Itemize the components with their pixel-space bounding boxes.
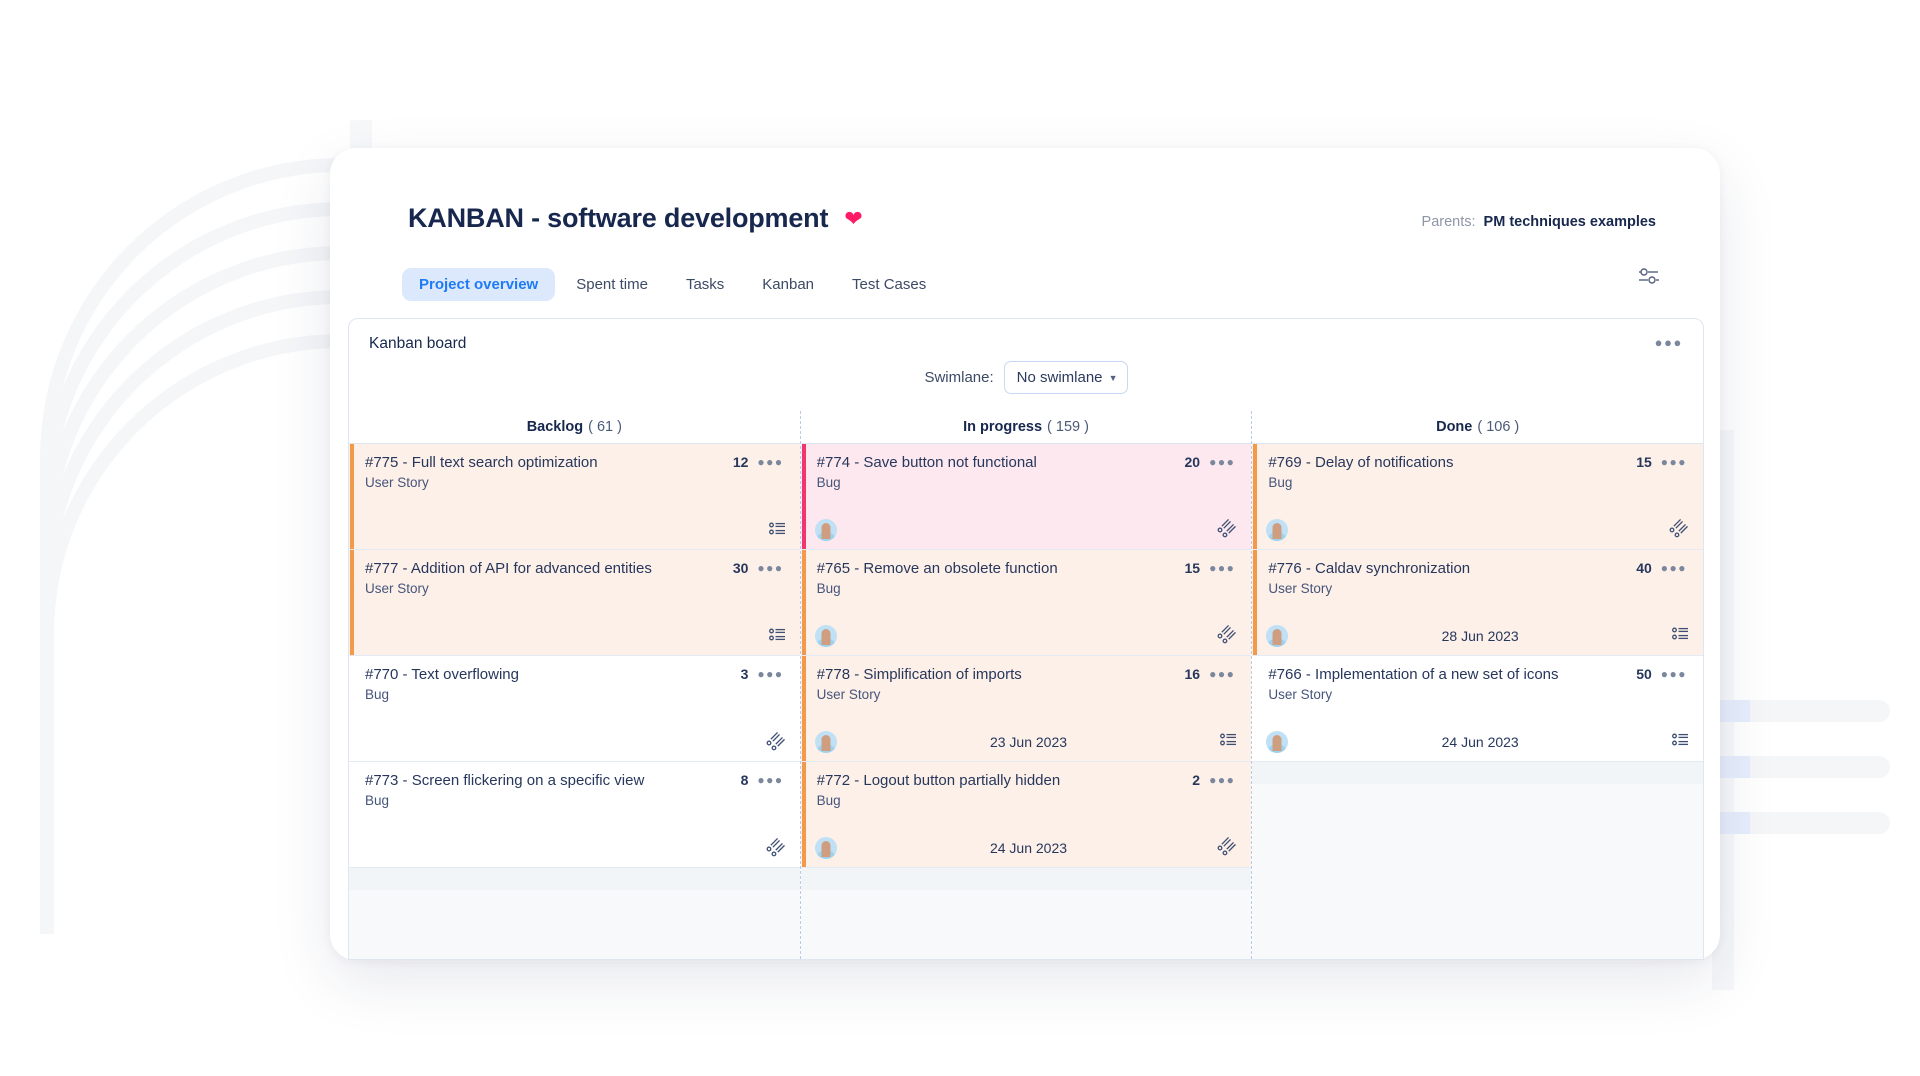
column-drop-area[interactable]	[1252, 762, 1703, 784]
ellipsis-icon[interactable]: ●●●	[1209, 667, 1235, 681]
card-footer	[363, 733, 786, 753]
card-title: #769 - Delay of notifications	[1268, 454, 1626, 473]
card-top: #766 - Implementation of a new set of ic…	[1268, 666, 1687, 685]
card-accent-bar	[1253, 550, 1257, 655]
card-points: 40	[1636, 560, 1652, 576]
avatar[interactable]	[1266, 731, 1288, 753]
card-points: 8	[741, 772, 749, 788]
card-footer: 24 Jun 2023	[815, 837, 1238, 859]
app-window: KANBAN - software development ❤ Parents:…	[330, 148, 1720, 960]
card-accent-bar	[802, 444, 806, 549]
card-footer	[815, 519, 1238, 541]
checklist-icon[interactable]	[764, 730, 790, 756]
card-points: 3	[741, 666, 749, 682]
checklist-icon[interactable]	[1220, 732, 1237, 752]
card-meta: 3●●●	[731, 666, 784, 682]
column-count: ( 159 )	[1047, 419, 1089, 435]
card-title: #775 - Full text search optimization	[365, 454, 723, 473]
kanban-card[interactable]: #775 - Full text search optimization12●●…	[349, 444, 800, 550]
ellipsis-icon[interactable]: ●●●	[757, 561, 783, 575]
ellipsis-icon[interactable]: ●●●	[1661, 561, 1687, 575]
avatar[interactable]	[1266, 519, 1288, 541]
column-count: ( 106 )	[1477, 419, 1519, 435]
checklist-icon[interactable]	[769, 627, 786, 647]
card-type: User Story	[1268, 581, 1687, 596]
card-footer	[815, 625, 1238, 647]
checklist-icon[interactable]	[1672, 626, 1689, 646]
card-top: #776 - Caldav synchronization40●●●	[1268, 560, 1687, 579]
kanban-card[interactable]: #774 - Save button not functional20●●●Bu…	[801, 444, 1252, 550]
column-name: Done	[1436, 419, 1472, 435]
tab-tasks[interactable]: Tasks	[669, 268, 741, 301]
card-title: #773 - Screen flickering on a specific v…	[365, 772, 731, 791]
ellipsis-icon[interactable]: ●●●	[1209, 773, 1235, 787]
column-name: In progress	[963, 419, 1042, 435]
card-title: #765 - Remove an obsolete function	[817, 560, 1175, 579]
tab-spent-time[interactable]: Spent time	[559, 268, 665, 301]
card-top: #777 - Addition of API for advanced enti…	[365, 560, 784, 579]
checklist-icon[interactable]	[1216, 623, 1242, 649]
avatar[interactable]	[1266, 625, 1288, 647]
card-type: User Story	[365, 475, 784, 490]
checklist-icon[interactable]	[769, 521, 786, 541]
card-top: #769 - Delay of notifications15●●●	[1268, 454, 1687, 473]
card-type: Bug	[365, 687, 784, 702]
kanban-card[interactable]: #770 - Text overflowing3●●●Bug	[349, 656, 800, 762]
card-points: 15	[1185, 560, 1201, 576]
card-accent-bar	[802, 762, 806, 867]
card-type: Bug	[817, 793, 1236, 808]
swimlane-value: No swimlane	[1017, 369, 1103, 386]
sliders-icon[interactable]	[1638, 266, 1660, 291]
card-title: #774 - Save button not functional	[817, 454, 1175, 473]
kanban-card[interactable]: #769 - Delay of notifications15●●●Bug	[1252, 444, 1703, 550]
column-count: ( 61 )	[588, 419, 622, 435]
card-meta: 12●●●	[723, 454, 784, 470]
card-footer: 23 Jun 2023	[815, 731, 1238, 753]
card-type: Bug	[1268, 475, 1687, 490]
card-meta: 50●●●	[1626, 666, 1687, 682]
card-meta: 8●●●	[731, 772, 784, 788]
card-footer	[363, 839, 786, 859]
kanban-board-panel: Kanban board ●●● Swimlane: No swimlane ▼…	[348, 318, 1704, 960]
card-accent-bar	[802, 656, 806, 761]
card-accent-bar	[1253, 444, 1257, 549]
card-top: #765 - Remove an obsolete function15●●●	[817, 560, 1236, 579]
board-column: In progress( 159 )#774 - Save button not…	[800, 411, 1252, 959]
card-meta: 30●●●	[723, 560, 784, 576]
kanban-card[interactable]: #766 - Implementation of a new set of ic…	[1252, 656, 1703, 762]
column-body[interactable]: #769 - Delay of notifications15●●●Bug#77…	[1252, 443, 1703, 959]
card-date: 23 Jun 2023	[837, 734, 1221, 750]
board-column: Backlog( 61 )#775 - Full text search opt…	[349, 411, 800, 959]
avatar[interactable]	[815, 731, 837, 753]
card-title: #777 - Addition of API for advanced enti…	[365, 560, 723, 579]
avatar[interactable]	[815, 519, 837, 541]
column-header: Done( 106 )	[1252, 411, 1703, 443]
checklist-icon[interactable]	[1672, 732, 1689, 752]
card-title: #770 - Text overflowing	[365, 666, 731, 685]
card-type: User Story	[817, 687, 1236, 702]
ellipsis-icon[interactable]: ●●●	[757, 773, 783, 787]
card-points: 20	[1185, 454, 1201, 470]
column-name: Backlog	[527, 419, 583, 435]
page-title: KANBAN - software development	[408, 203, 828, 234]
card-title: #766 - Implementation of a new set of ic…	[1268, 666, 1626, 685]
board-column: Done( 106 )#769 - Delay of notifications…	[1251, 411, 1703, 959]
decor-bar	[1690, 756, 1890, 778]
ellipsis-icon[interactable]: ●●●	[1655, 335, 1683, 350]
avatar[interactable]	[815, 625, 837, 647]
card-top: #773 - Screen flickering on a specific v…	[365, 772, 784, 791]
tab-bar: Project overview Spent time Tasks Kanban…	[402, 268, 943, 301]
card-type: Bug	[817, 581, 1236, 596]
card-meta: 2●●●	[1182, 772, 1235, 788]
card-date: 28 Jun 2023	[1288, 628, 1672, 644]
card-footer: 28 Jun 2023	[1266, 625, 1689, 647]
ellipsis-icon[interactable]: ●●●	[1209, 561, 1235, 575]
column-drop-area[interactable]	[801, 868, 1252, 890]
board-title: Kanban board	[369, 335, 466, 353]
card-title: #776 - Caldav synchronization	[1268, 560, 1626, 579]
card-date: 24 Jun 2023	[837, 840, 1221, 856]
card-title: #772 - Logout button partially hidden	[817, 772, 1183, 791]
decor-bar	[1690, 812, 1890, 834]
card-type: User Story	[365, 581, 784, 596]
heart-icon[interactable]: ❤	[844, 208, 862, 230]
checklist-icon[interactable]	[1216, 835, 1242, 861]
breadcrumb: Parents: PM techniques examples	[1422, 214, 1656, 230]
card-meta: 20●●●	[1175, 454, 1236, 470]
kanban-card[interactable]: #778 - Simplification of imports16●●●Use…	[801, 656, 1252, 762]
kanban-card[interactable]: #776 - Caldav synchronization40●●●User S…	[1252, 550, 1703, 656]
kanban-card[interactable]: #765 - Remove an obsolete function15●●●B…	[801, 550, 1252, 656]
card-footer: 24 Jun 2023	[1266, 731, 1689, 753]
checklist-icon[interactable]	[1667, 517, 1693, 543]
kanban-card[interactable]: #773 - Screen flickering on a specific v…	[349, 762, 800, 868]
card-type: User Story	[1268, 687, 1687, 702]
checklist-icon[interactable]	[764, 836, 790, 862]
board-columns: Backlog( 61 )#775 - Full text search opt…	[349, 411, 1703, 959]
tab-test-cases[interactable]: Test Cases	[835, 268, 943, 301]
kanban-card[interactable]: #772 - Logout button partially hidden2●●…	[801, 762, 1252, 868]
kanban-card[interactable]: #777 - Addition of API for advanced enti…	[349, 550, 800, 656]
card-date: 24 Jun 2023	[1288, 734, 1672, 750]
card-points: 30	[733, 560, 749, 576]
column-drop-area[interactable]	[349, 868, 800, 890]
column-header: In progress( 159 )	[801, 411, 1252, 443]
card-accent-bar	[350, 550, 354, 655]
card-points: 16	[1185, 666, 1201, 682]
card-top: #772 - Logout button partially hidden2●●…	[817, 772, 1236, 791]
swimlane-label: Swimlane:	[924, 369, 993, 386]
card-points: 50	[1636, 666, 1652, 682]
decor-bar	[1690, 700, 1890, 722]
card-footer	[1266, 519, 1689, 541]
card-top: #778 - Simplification of imports16●●●	[817, 666, 1236, 685]
card-footer	[363, 521, 786, 541]
card-meta: 15●●●	[1626, 454, 1687, 470]
checklist-icon[interactable]	[1216, 517, 1242, 543]
chevron-down-icon: ▼	[1109, 373, 1118, 383]
ellipsis-icon[interactable]: ●●●	[1661, 455, 1687, 469]
parents-link[interactable]: PM techniques examples	[1484, 214, 1656, 230]
ellipsis-icon[interactable]: ●●●	[757, 667, 783, 681]
tab-kanban[interactable]: Kanban	[745, 268, 831, 301]
ellipsis-icon[interactable]: ●●●	[1209, 455, 1235, 469]
column-header: Backlog( 61 )	[349, 411, 800, 443]
swimlane-select[interactable]: No swimlane ▼	[1004, 361, 1128, 394]
card-meta: 15●●●	[1175, 560, 1236, 576]
tab-project-overview[interactable]: Project overview	[402, 268, 555, 301]
card-points: 15	[1636, 454, 1652, 470]
card-top: #770 - Text overflowing3●●●	[365, 666, 784, 685]
card-type: Bug	[817, 475, 1236, 490]
column-body[interactable]: #774 - Save button not functional20●●●Bu…	[801, 443, 1252, 959]
card-type: Bug	[365, 793, 784, 808]
card-top: #774 - Save button not functional20●●●	[817, 454, 1236, 473]
card-top: #775 - Full text search optimization12●●…	[365, 454, 784, 473]
swimlane-control: Swimlane: No swimlane ▼	[349, 361, 1703, 394]
card-points: 2	[1192, 772, 1200, 788]
card-footer	[363, 627, 786, 647]
avatar[interactable]	[815, 837, 837, 859]
column-body[interactable]: #775 - Full text search optimization12●●…	[349, 443, 800, 959]
card-meta: 16●●●	[1175, 666, 1236, 682]
ellipsis-icon[interactable]: ●●●	[757, 455, 783, 469]
card-accent-bar	[350, 444, 354, 549]
card-points: 12	[733, 454, 749, 470]
card-meta: 40●●●	[1626, 560, 1687, 576]
card-accent-bar	[802, 550, 806, 655]
ellipsis-icon[interactable]: ●●●	[1661, 667, 1687, 681]
parents-label: Parents:	[1422, 214, 1476, 230]
page-header: KANBAN - software development ❤ Parents:…	[408, 203, 1656, 234]
card-title: #778 - Simplification of imports	[817, 666, 1175, 685]
